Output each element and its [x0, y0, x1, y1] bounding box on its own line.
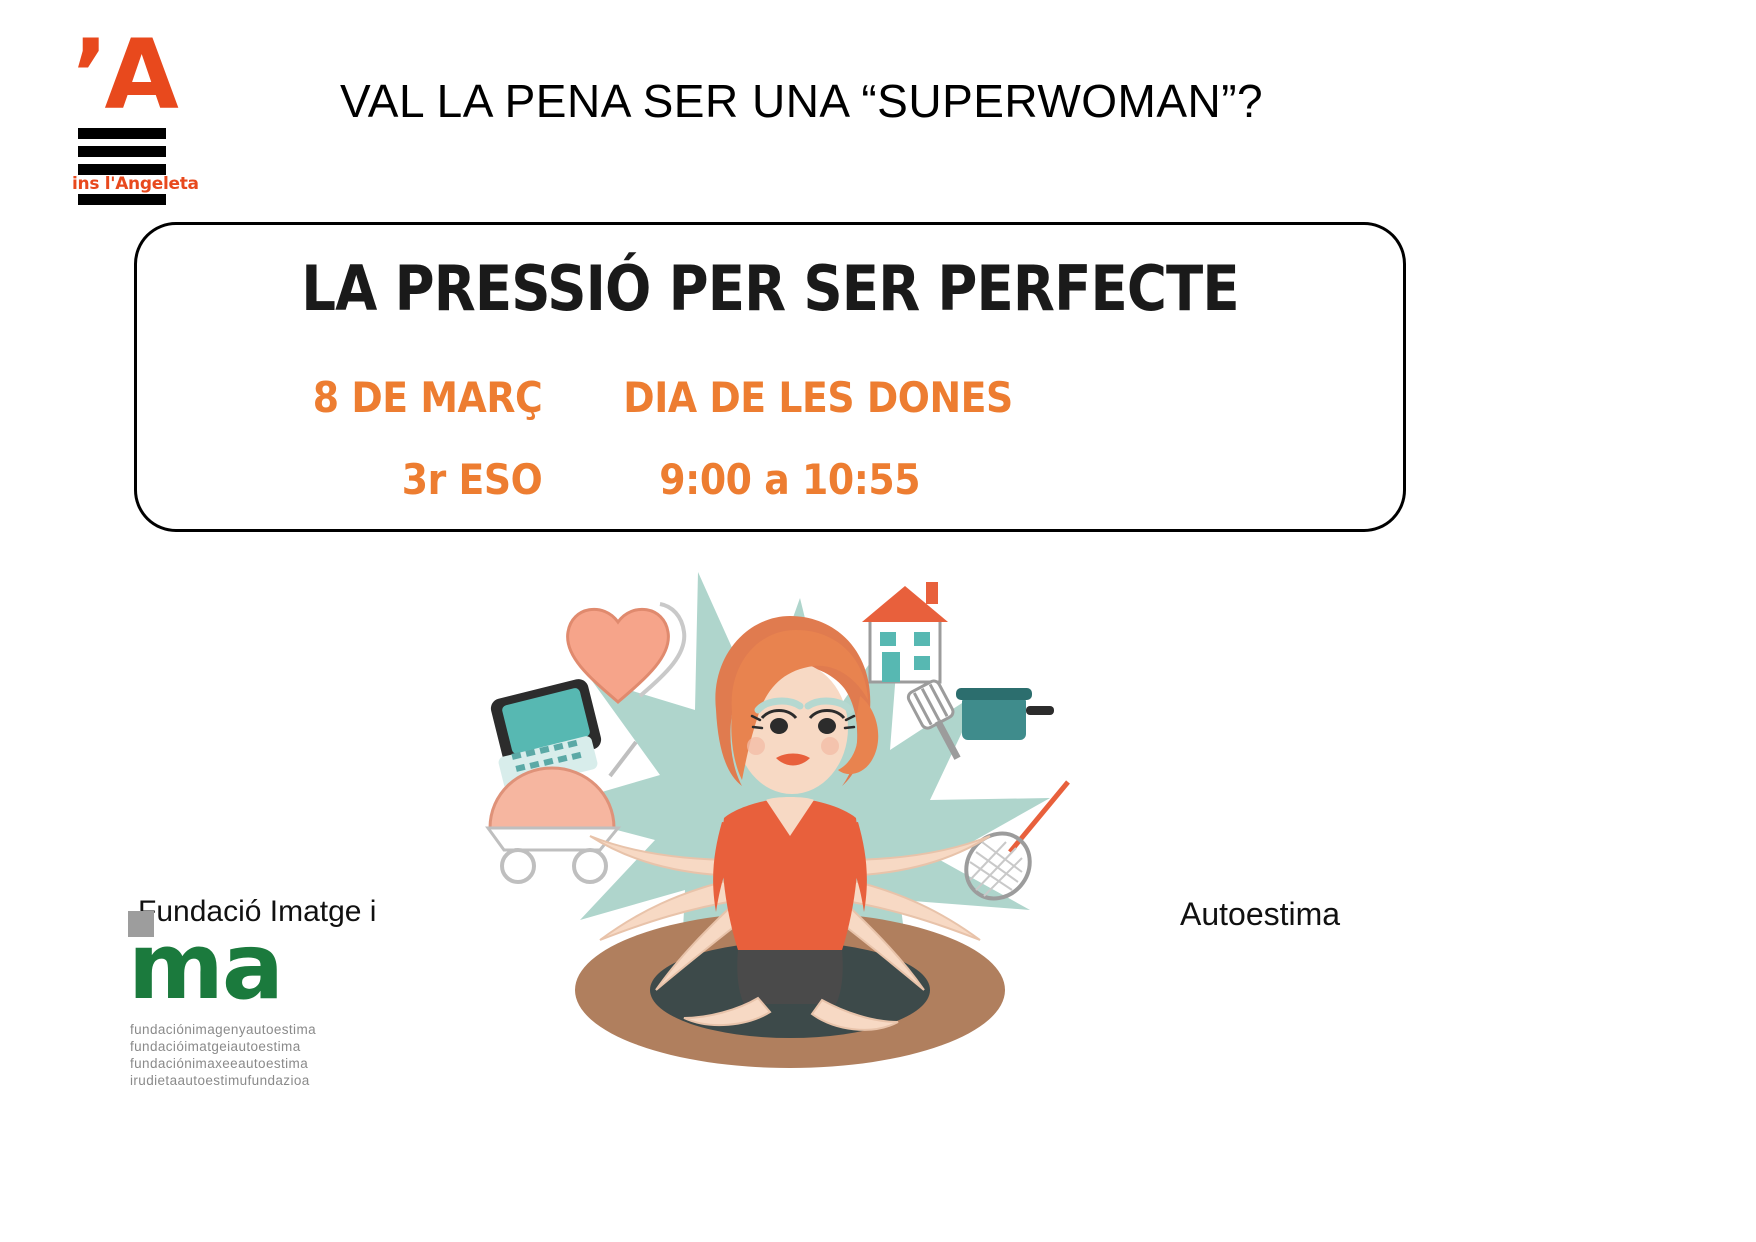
- foundation-tagline-2: fundacióimatgeiautoestima: [130, 1038, 316, 1055]
- institute-logo-mark: ’A: [72, 36, 192, 114]
- foundation-logo: Fundació Imatge i ma fundaciónimagenyaut…: [128, 895, 458, 1065]
- foundation-tagline-3: fundaciónimaxeeautoestima: [130, 1055, 316, 1072]
- autoestima-label: Autoestima: [1180, 896, 1340, 933]
- info-box: LA PRESSIÓ PER SER PERFECTE 8 DE MARÇ DI…: [134, 222, 1406, 532]
- info-date-day: 8 DE MARÇ: [200, 373, 542, 422]
- info-group-level: 3r ESO: [200, 455, 542, 504]
- foundation-tagline-1: fundaciónimagenyautoestima: [130, 1021, 316, 1038]
- info-box-heading: LA PRESSIÓ PER SER PERFECTE: [213, 253, 1327, 325]
- house-icon: [862, 582, 948, 682]
- info-date-event: DIA DE LES DONES: [542, 373, 1127, 422]
- info-row-group: 3r ESO 9:00 a 10:55: [200, 455, 1339, 504]
- page-title: VAL LA PENA SER UNA “SUPERWOMAN”?: [340, 74, 1263, 128]
- institute-logo: ’A ins l'Angeleta: [72, 36, 192, 204]
- foundation-taglines: fundaciónimagenyautoestima fundacióimatg…: [130, 1021, 316, 1089]
- logo-bar-1: [78, 128, 166, 139]
- info-group-time: 9:00 a 10:55: [542, 455, 1163, 504]
- foundation-logo-mark: ma: [128, 921, 282, 1013]
- info-row-date: 8 DE MARÇ DIA DE LES DONES: [200, 373, 1339, 422]
- logo-bar-2: [78, 146, 166, 157]
- institute-logo-name: ins l'Angeleta: [72, 174, 192, 194]
- logo-bar-4: [78, 194, 166, 205]
- foundation-tagline-4: irudietaautoestimufundazioa: [130, 1072, 316, 1089]
- superwoman-multitasking-illustration: [470, 560, 1100, 1080]
- head-and-hair: [715, 616, 878, 794]
